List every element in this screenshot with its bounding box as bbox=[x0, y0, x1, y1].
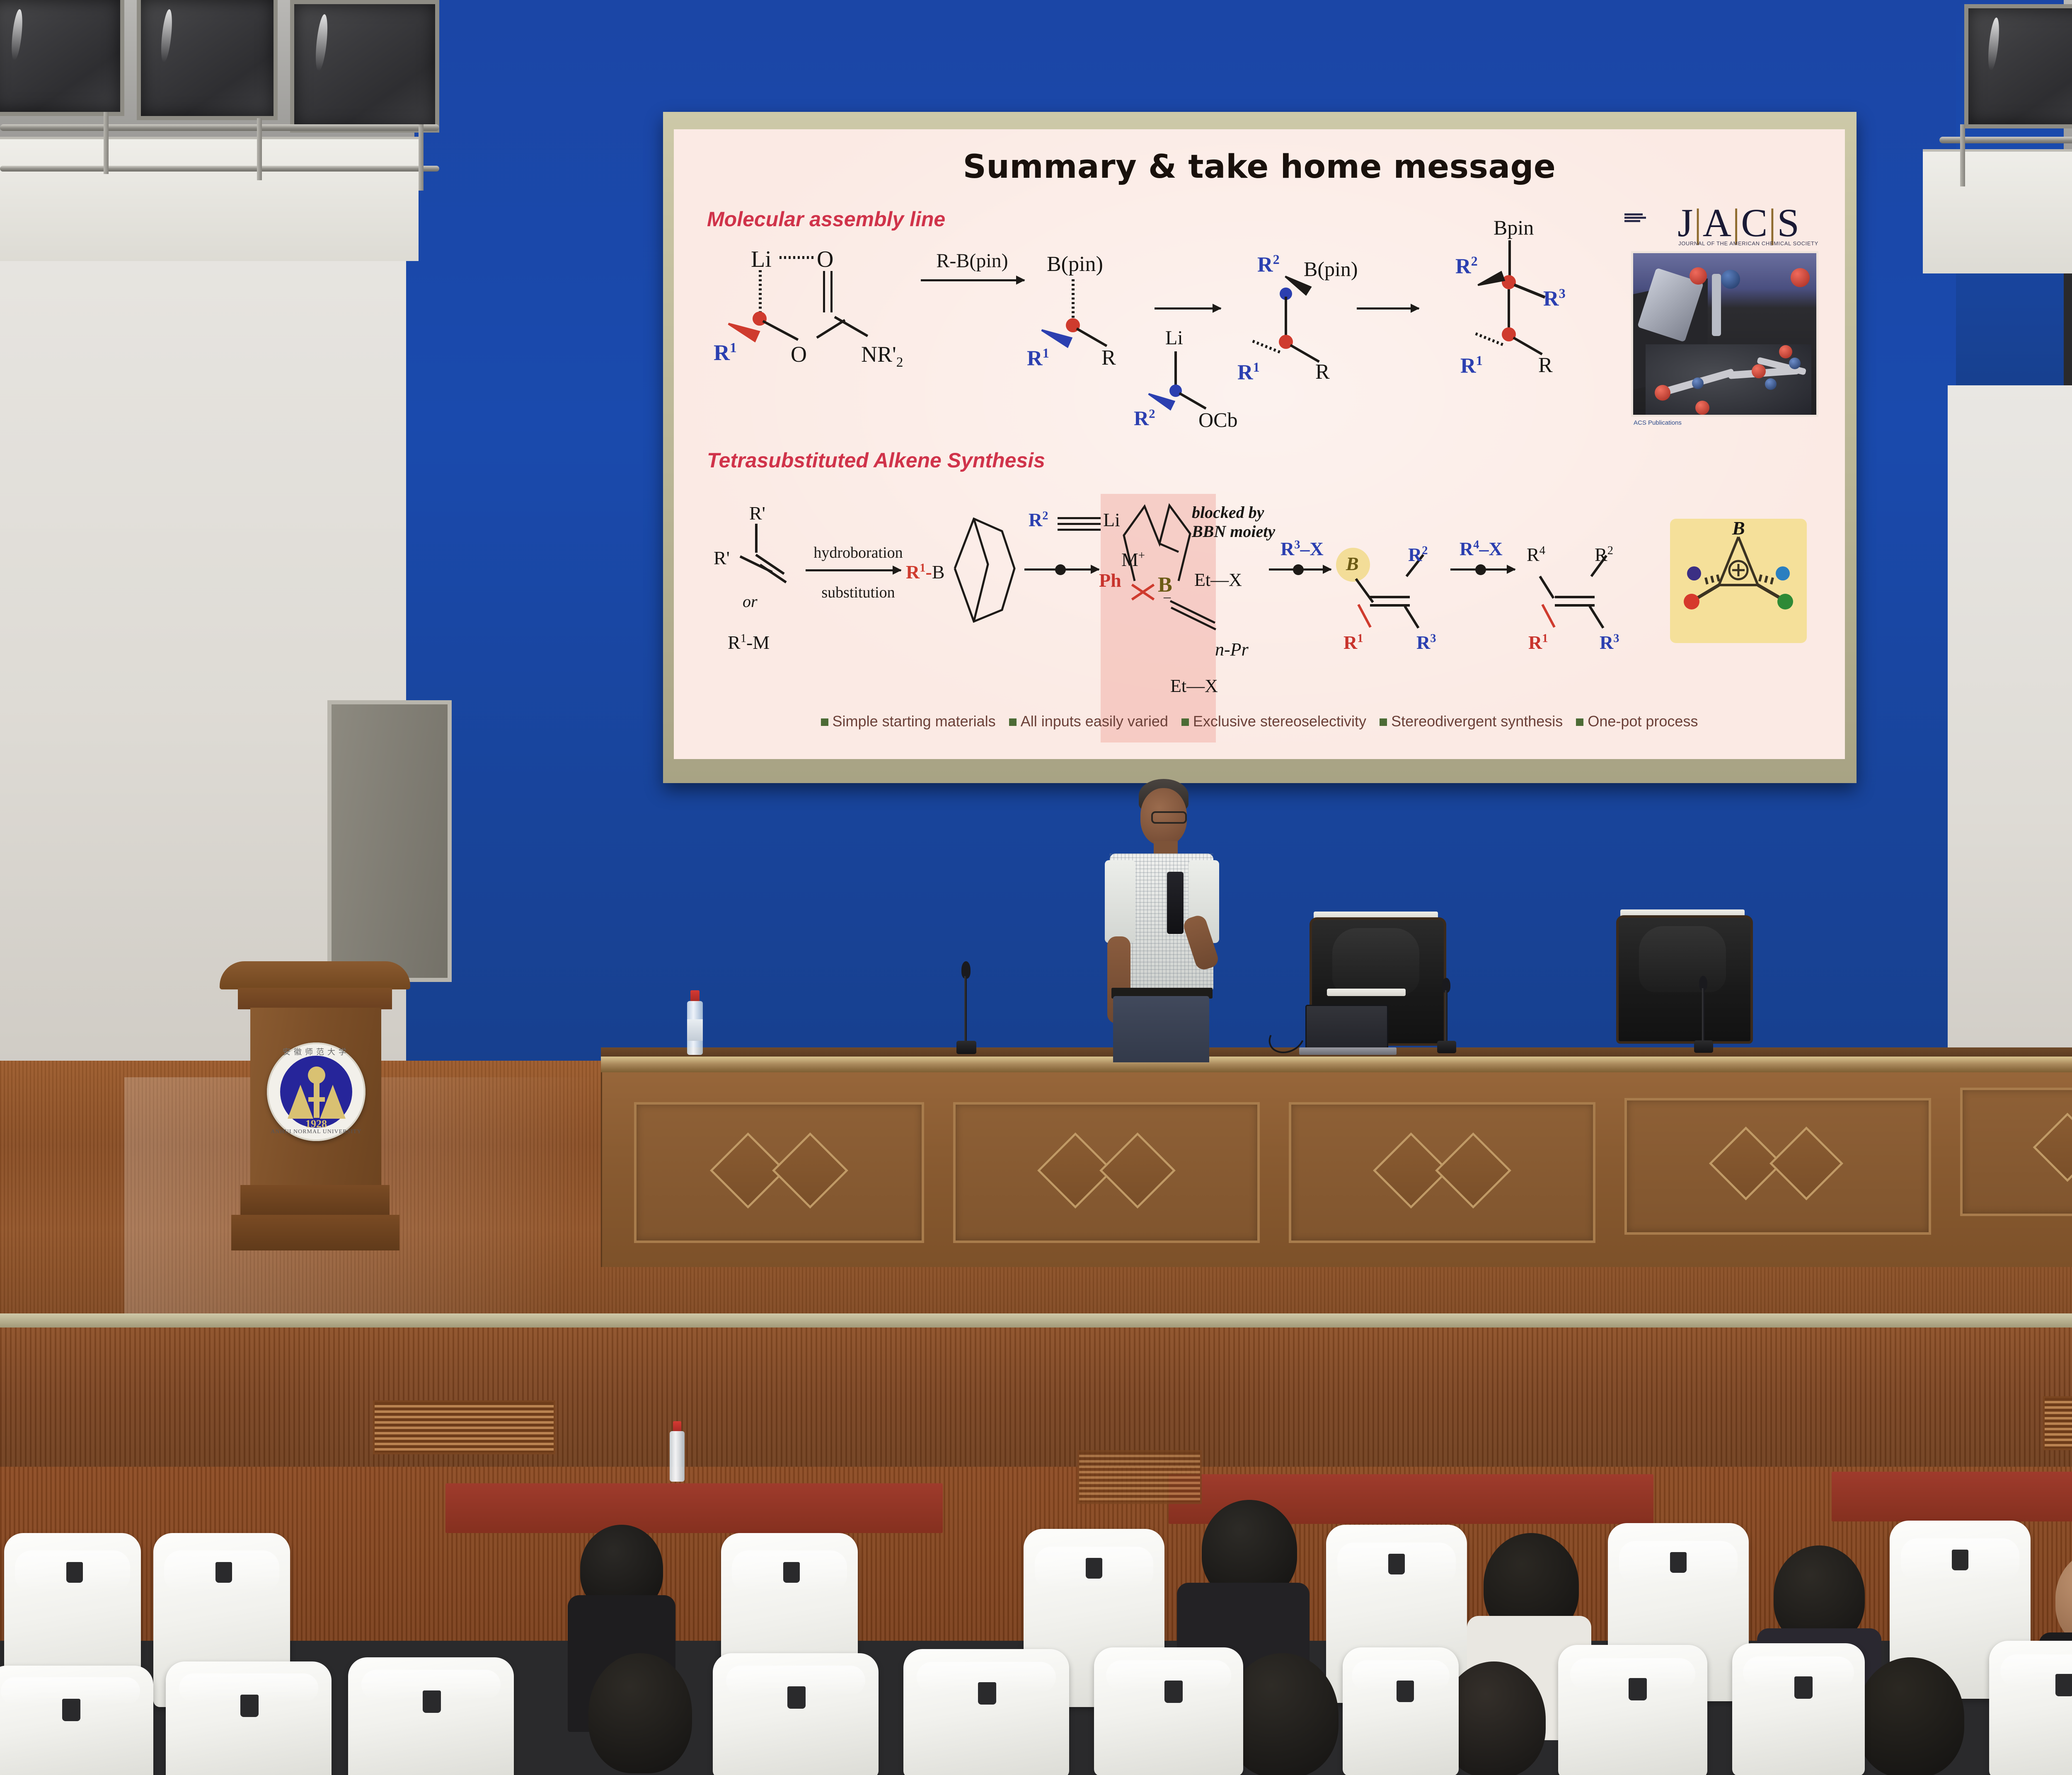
bpin-dash-bond-1 bbox=[1072, 279, 1075, 322]
label-r2-alkyne: R2 bbox=[1029, 509, 1048, 531]
balcony-glass-panel bbox=[0, 0, 124, 116]
seal-chinese-name: 安徽师范大学 bbox=[267, 1046, 366, 1057]
audience-seat[interactable] bbox=[1989, 1641, 2072, 1775]
bottle-cap bbox=[690, 990, 700, 1002]
label-or: or bbox=[743, 592, 758, 611]
bond-to-r3-4 bbox=[1514, 283, 1546, 298]
seat-clip bbox=[1086, 1558, 1102, 1579]
audience-water-bottle bbox=[667, 1421, 688, 1483]
slide-bullet-row: Simple starting materials All inputs eas… bbox=[674, 713, 1845, 730]
audience-person-head bbox=[1227, 1653, 1339, 1775]
seat-clip bbox=[787, 1686, 806, 1709]
bond-to-r1-mid bbox=[1357, 604, 1371, 628]
eyeglasses-icon bbox=[1151, 811, 1187, 824]
jacs-cover-artwork bbox=[1631, 251, 1818, 417]
bond-alkene-d1 bbox=[1370, 596, 1410, 598]
microphone-base bbox=[1437, 1041, 1456, 1053]
seal-sun-circle bbox=[308, 1066, 325, 1084]
label-boron-box: B bbox=[1732, 517, 1745, 539]
audience-desk bbox=[445, 1483, 943, 1533]
label-nr2: NR'2 bbox=[861, 341, 903, 370]
seat-clip bbox=[978, 1682, 996, 1705]
boron-bridge-highlight-box: B bbox=[1670, 519, 1807, 643]
atom-sphere-red bbox=[1791, 268, 1810, 287]
label-r1-m: R1-M bbox=[728, 631, 770, 653]
alkyne-bond-3 bbox=[1058, 529, 1101, 531]
podium-step-upper bbox=[240, 1185, 390, 1217]
water-bottle[interactable] bbox=[684, 990, 707, 1057]
label-r2-4: R2 bbox=[1455, 254, 1478, 278]
bullet-marker bbox=[1009, 718, 1017, 726]
left-balcony-parapet bbox=[0, 137, 419, 261]
crossed-out-marker bbox=[1130, 583, 1156, 601]
section1-heading: Molecular assembly line bbox=[707, 207, 945, 231]
lectern-podium[interactable]: 1928 安徽师范大学 ANHUI NORMAL UNIVERSITY bbox=[215, 961, 414, 1284]
co-double-bond-b bbox=[830, 271, 833, 312]
bond-final-r3 bbox=[1588, 605, 1604, 629]
robot-arm bbox=[1712, 274, 1721, 336]
railing-post bbox=[104, 112, 109, 174]
bond-wedge-r2-4 bbox=[1476, 271, 1506, 290]
note-blocked-by-bbn: blocked by BBN moiety bbox=[1192, 503, 1279, 541]
alkyne-bond-1 bbox=[1058, 517, 1101, 519]
label-b-vinyl: B bbox=[1346, 553, 1359, 575]
label-r1-4: R1 bbox=[1460, 353, 1483, 378]
seat-clip bbox=[1397, 1681, 1414, 1702]
bullet-label: Exclusive stereoselectivity bbox=[1193, 713, 1366, 730]
bond-c-o-ester bbox=[762, 320, 799, 341]
bond-carbonyl-n bbox=[834, 316, 869, 337]
audience-seat[interactable] bbox=[1343, 1647, 1459, 1775]
podium-top-surface bbox=[220, 961, 410, 989]
right-balcony-parapet bbox=[1923, 149, 2072, 273]
stage-chair[interactable] bbox=[1616, 909, 1757, 1050]
bullet-label: All inputs easily varied bbox=[1021, 713, 1168, 730]
seat-clip bbox=[783, 1562, 800, 1583]
stage-vent-grille bbox=[373, 1400, 555, 1454]
atom-sphere-red bbox=[1690, 267, 1707, 285]
label-r3-final: R3 bbox=[1600, 631, 1619, 653]
label-r-prime-left: R' bbox=[714, 547, 730, 569]
left-door[interactable] bbox=[327, 700, 452, 982]
acs-publications-label: ACS Publications bbox=[1634, 419, 1682, 426]
balcony-glass-panel bbox=[137, 0, 278, 120]
balcony-railing bbox=[0, 166, 439, 172]
microphone-base bbox=[956, 1041, 976, 1054]
audience-wall-vent bbox=[1077, 1450, 1202, 1504]
atom-sphere-blue bbox=[1721, 270, 1740, 289]
bond-final-r1 bbox=[1541, 604, 1555, 628]
railing-post bbox=[419, 124, 424, 191]
head-table-edge bbox=[601, 1057, 2072, 1072]
audience-seat[interactable] bbox=[1094, 1647, 1243, 1775]
co-double-bond-a bbox=[823, 271, 825, 312]
label-r2-final: R2 bbox=[1595, 544, 1613, 566]
railing-post bbox=[1960, 124, 1965, 186]
seat-clip bbox=[1629, 1678, 1647, 1700]
seat-clip bbox=[2055, 1674, 2072, 1696]
label-r-3: R bbox=[1315, 360, 1330, 384]
laptop-keyboard-base[interactable] bbox=[1299, 1047, 1397, 1055]
label-li-alkyne: Li bbox=[1103, 509, 1120, 531]
label-li-reagent: Li bbox=[1165, 326, 1183, 349]
microphone-stem bbox=[964, 976, 967, 1042]
audience-person-head bbox=[1857, 1657, 1964, 1775]
bond-chain-vertical-4 bbox=[1508, 289, 1510, 332]
alkyne-bond-2 bbox=[1058, 523, 1101, 525]
bond-to-r3-mid bbox=[1404, 605, 1419, 629]
presenter-trousers bbox=[1113, 996, 1209, 1062]
jacs-subtitle: JOURNAL OF THE AMERICAN CHEMICAL SOCIETY bbox=[1676, 240, 1821, 247]
seal-english-name: ANHUI NORMAL UNIVERSITY bbox=[267, 1129, 366, 1135]
label-r1: R1 bbox=[714, 340, 737, 365]
presenter-sleeve-left bbox=[1105, 860, 1135, 943]
podium-step-lower bbox=[231, 1215, 399, 1250]
atom-sphere-blue bbox=[1692, 377, 1704, 389]
balcony-railing bbox=[1939, 137, 2072, 143]
chair-cushion bbox=[1332, 928, 1419, 994]
arrow-label-substitution: substitution bbox=[798, 583, 918, 602]
label-et-x-top: Et—X bbox=[1194, 569, 1242, 590]
label-bpin-1: B(pin) bbox=[1047, 252, 1103, 276]
label-r-4: R bbox=[1538, 353, 1553, 377]
label-r1-mid: R1 bbox=[1343, 631, 1363, 653]
table-microphone[interactable] bbox=[1691, 976, 1716, 1057]
projection-screen-frame: Summary & take home message Molecular as… bbox=[663, 112, 1857, 783]
seal-center-cross bbox=[308, 1097, 325, 1102]
label-npr: n-Pr bbox=[1215, 639, 1249, 660]
atom-o-top: O bbox=[817, 246, 833, 273]
audience-person-head bbox=[588, 1653, 692, 1773]
label-et-x-bottom: Et—X bbox=[1170, 675, 1218, 696]
hash-bond-r1-4 bbox=[1475, 332, 1505, 347]
atom-sphere-blue bbox=[1765, 378, 1777, 390]
jacs-wordmark: J|A|C|S bbox=[1652, 200, 1826, 246]
label-r4-final: R4 bbox=[1527, 544, 1545, 566]
handheld-microphone bbox=[1167, 872, 1184, 934]
bottle-cap bbox=[673, 1421, 681, 1432]
atom-li: Li bbox=[751, 246, 772, 273]
seat-clip bbox=[66, 1562, 83, 1583]
bond-chain-vertical bbox=[1285, 297, 1287, 340]
atom-sphere-red bbox=[1695, 401, 1709, 415]
bullet-marker bbox=[821, 718, 828, 726]
label-bpin-top: Bpin bbox=[1493, 215, 1534, 239]
label-r3-4: R3 bbox=[1543, 286, 1566, 311]
label-r1-final: R1 bbox=[1528, 631, 1548, 653]
arrow-mid-dot bbox=[1475, 564, 1486, 575]
arrow-mid-dot bbox=[1293, 564, 1304, 575]
reaction-arrow-hydroboration bbox=[806, 569, 901, 571]
audience-seat[interactable] bbox=[166, 1661, 332, 1775]
label-r1-2: R1 bbox=[1027, 346, 1049, 370]
arrow-mid-dot bbox=[1055, 564, 1066, 575]
section2-heading: Tetrasubstituted Alkene Synthesis bbox=[707, 448, 1045, 472]
bond-bpin-down bbox=[1508, 240, 1511, 279]
label-ph: Ph bbox=[1099, 569, 1121, 591]
bond-to-ocb bbox=[1179, 392, 1207, 409]
label-bpin-2: B(pin) bbox=[1304, 257, 1358, 281]
atom-sphere-blue bbox=[1789, 358, 1801, 369]
auditorium-photograph: Summary & take home message Molecular as… bbox=[0, 0, 2072, 1775]
slide-title: Summary & take home message bbox=[674, 148, 1845, 186]
audience-desk bbox=[1832, 1472, 2072, 1521]
bullet-label: One-pot process bbox=[1588, 713, 1698, 730]
bullet-label: Stereodivergent synthesis bbox=[1391, 713, 1563, 730]
seat-clip bbox=[1952, 1550, 1968, 1570]
label-r1-b: R1-B bbox=[906, 561, 945, 583]
stage-vent-grille bbox=[2043, 1396, 2072, 1450]
balcony-glass-panel bbox=[1964, 4, 2072, 128]
bond-li-c bbox=[1174, 351, 1177, 388]
table-microphone[interactable] bbox=[1434, 978, 1459, 1057]
seat-clip bbox=[423, 1690, 441, 1713]
balcony-railing bbox=[0, 124, 439, 131]
bond-b-to-c bbox=[1355, 578, 1374, 603]
label-r2-reagent: R2 bbox=[1134, 406, 1155, 430]
audience-seat[interactable] bbox=[1732, 1643, 1865, 1775]
bond-to-r-4 bbox=[1513, 336, 1543, 355]
bond-final-e1 bbox=[1555, 596, 1595, 598]
bullet-label: Simple starting materials bbox=[833, 713, 996, 730]
bullet-marker bbox=[1576, 718, 1583, 726]
label-r-prime-top: R' bbox=[749, 502, 765, 524]
chair-lumbar-towel bbox=[1327, 989, 1406, 996]
reaction-arrow-2 bbox=[1155, 307, 1221, 310]
bullet-marker bbox=[1380, 718, 1387, 726]
label-r-2: R bbox=[1101, 346, 1116, 370]
bond-alkene-up bbox=[755, 524, 758, 553]
audience-seat[interactable] bbox=[903, 1649, 1069, 1775]
university-seal: 1928 安徽师范大学 ANHUI NORMAL UNIVERSITY bbox=[267, 1042, 366, 1141]
jacs-journal-cover: J|A|C|S JOURNAL OF THE AMERICAN CHEMICAL… bbox=[1627, 200, 1826, 432]
atom-sphere-red bbox=[1655, 385, 1670, 401]
reaction-arrow-1 bbox=[921, 279, 1024, 281]
arrow-label-hydroboration: hydroboration bbox=[798, 544, 918, 562]
label-ocb: OCb bbox=[1198, 408, 1237, 432]
reaction-arrow-3 bbox=[1357, 307, 1419, 310]
label-r3-mid: R3 bbox=[1416, 631, 1436, 653]
microphone-stem bbox=[1445, 990, 1447, 1042]
reagent-label-rbpin: R-B(pin) bbox=[918, 249, 1026, 272]
seat-clip bbox=[1164, 1681, 1183, 1703]
label-o-ester: O bbox=[791, 341, 807, 367]
podium-collar bbox=[238, 988, 392, 1009]
microphone-base bbox=[1694, 1040, 1713, 1053]
audience-seat[interactable] bbox=[0, 1666, 153, 1775]
balcony-glass-panel bbox=[290, 0, 439, 133]
bond-to-r bbox=[1076, 327, 1108, 347]
seat-clip bbox=[1670, 1552, 1687, 1573]
audience-seat[interactable] bbox=[713, 1653, 879, 1775]
label-b-minus: – bbox=[1164, 589, 1171, 605]
label-r2-product: R2 bbox=[1257, 252, 1280, 277]
seat-clip bbox=[240, 1695, 259, 1717]
label-r2-mid: R2 bbox=[1408, 544, 1428, 566]
label-r1-3: R1 bbox=[1237, 360, 1260, 385]
audience-seat[interactable] bbox=[1558, 1645, 1707, 1775]
audience-seat[interactable] bbox=[348, 1657, 514, 1775]
atom-sphere-red bbox=[1752, 364, 1766, 378]
atom-sphere-red bbox=[1779, 345, 1792, 358]
bond-final-r4 bbox=[1539, 576, 1554, 599]
bottle-body bbox=[670, 1431, 685, 1482]
li-o-dash-bond bbox=[779, 256, 815, 259]
right-side-wall bbox=[1948, 385, 2072, 1106]
seat-clip bbox=[1794, 1676, 1813, 1699]
seat-clip bbox=[1388, 1554, 1405, 1574]
seat-clip bbox=[62, 1699, 80, 1721]
reagent-label-r4x: R4–X bbox=[1460, 538, 1503, 560]
seat-clip bbox=[215, 1562, 232, 1583]
bbn-ring-icon bbox=[952, 515, 1019, 631]
hash-bond-r1-3 bbox=[1252, 340, 1282, 354]
reagent-label-r3x: R3–X bbox=[1280, 538, 1324, 560]
railing-post bbox=[257, 118, 262, 180]
li-c-dash-bond bbox=[759, 270, 762, 316]
bullet-marker bbox=[1181, 718, 1189, 726]
table-microphone[interactable] bbox=[953, 961, 978, 1057]
microphone-stem bbox=[1702, 988, 1704, 1042]
presenter bbox=[1086, 779, 1243, 1061]
stage-edge-trim bbox=[0, 1313, 2072, 1328]
label-m-plus: M+ bbox=[1121, 549, 1145, 571]
laptop-screen[interactable] bbox=[1305, 1005, 1388, 1050]
presentation-slide[interactable]: Summary & take home message Molecular as… bbox=[674, 129, 1845, 759]
bottle-label bbox=[687, 1019, 703, 1041]
